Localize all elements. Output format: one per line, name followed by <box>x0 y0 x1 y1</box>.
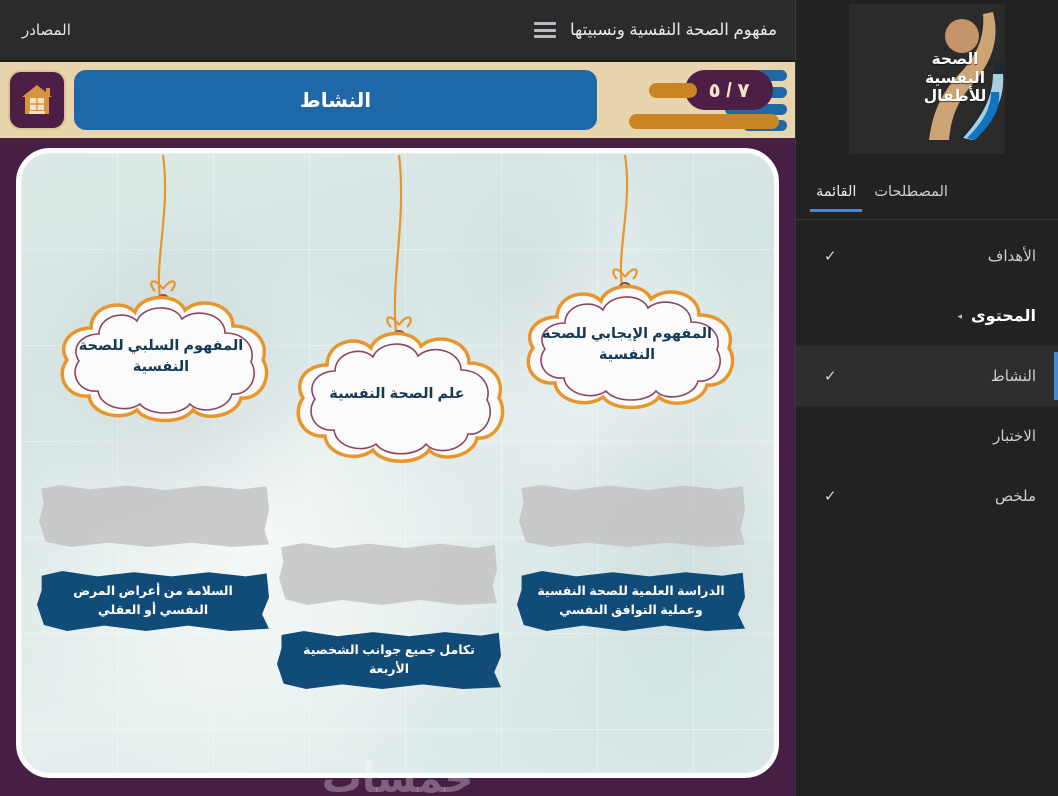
answer-chip-label: السلامة من أعراض المرض النفسي أو العقلي <box>51 582 255 620</box>
answer-chip-label: الدراسة العلمية للصحة النفسية وعملية الت… <box>531 582 731 620</box>
check-icon: ✓ <box>824 489 837 504</box>
brand-logo-text: الصحة النفسية للأطفال <box>919 51 1005 108</box>
check-icon: ✓ <box>824 369 837 384</box>
logo-area: الصحة النفسية للأطفال <box>796 0 1058 162</box>
answer-chip-left[interactable]: السلامة من أعراض المرض النفسي أو العقلي <box>37 571 269 631</box>
home-button[interactable] <box>8 70 66 130</box>
sidebar-item-label: الاختبار <box>993 427 1036 445</box>
cloud-card-negative[interactable]: المفهوم السلبي للصحة النفسية <box>43 290 279 424</box>
app-root: مفهوم الصحة النفسية ونسبيتها المصادر الن… <box>0 0 1058 796</box>
sidebar-tabs: القائمة المصطلحات <box>796 162 1058 220</box>
dropzone-right[interactable] <box>519 485 745 547</box>
sidebar-item-label: الأهداف <box>988 247 1036 265</box>
brand-line-2: النفسية <box>919 70 991 89</box>
top-bar-right-group: مفهوم الصحة النفسية ونسبيتها <box>534 20 777 40</box>
sidebar-item-activity[interactable]: النشاط ✓ <box>796 346 1058 406</box>
answer-chip-center[interactable]: تكامل جميع جوانب الشخصية الأربعة <box>277 631 501 689</box>
sidebar-item-test[interactable]: الاختبار <box>796 406 1058 466</box>
cloud-label: علم الصحة النفسية <box>307 384 486 405</box>
activity-title: النشاط <box>74 70 597 130</box>
brand-line-3: للأطفال <box>919 88 991 107</box>
sidebar-item-goals-label-group: الأهداف <box>988 247 1036 265</box>
cloud-card-positive[interactable]: المفهوم الإيجابي للصحة النفسية <box>509 279 745 411</box>
answer-chip-label: تكامل جميع جوانب الشخصية الأربعة <box>291 641 487 679</box>
activity-canvas: المفهوم السلبي للصحة النفسية علم الصحة ا… <box>16 148 779 778</box>
dropzone-left[interactable] <box>39 485 269 547</box>
main-content-area: مفهوم الصحة النفسية ونسبيتها المصادر الن… <box>0 0 795 796</box>
activity-band: النشاط ٧ / ٥ <box>0 60 795 138</box>
decor-dash-orange-1 <box>649 83 697 98</box>
tab-menu[interactable]: القائمة <box>814 170 858 212</box>
sidebar-item-label: المحتوى <box>971 306 1036 326</box>
activity-stage: المفهوم السلبي للصحة النفسية علم الصحة ا… <box>0 138 795 796</box>
brand-line-1: الصحة <box>919 51 991 70</box>
cloud-card-center[interactable]: علم الصحة النفسية <box>279 325 515 465</box>
sidebar-item-summary-label-group: ملخص <box>995 487 1036 505</box>
slide-counter: ٧ / ٥ <box>685 70 773 110</box>
sidebar-item-summary[interactable]: ملخص ✓ <box>796 466 1058 526</box>
sidebar-item-label: ملخص <box>995 487 1036 505</box>
top-bar: مفهوم الصحة النفسية ونسبيتها المصادر <box>0 0 795 60</box>
sidebar: الصحة النفسية للأطفال القائمة المصطلحات … <box>795 0 1058 796</box>
sidebar-menu: الأهداف ✓ المحتوى ◂ النشاط ✓ الاختبا <box>796 220 1058 526</box>
brand-logo: الصحة النفسية للأطفال <box>849 4 1005 154</box>
check-icon: ✓ <box>824 249 837 264</box>
cloud-label: المفهوم السلبي للصحة النفسية <box>43 336 279 378</box>
hamburger-icon[interactable] <box>534 22 556 38</box>
sidebar-item-content[interactable]: المحتوى ◂ <box>796 286 1058 346</box>
decor-dash-orange-2 <box>629 114 779 129</box>
sources-link[interactable]: المصادر <box>22 21 71 39</box>
dropzone-center[interactable] <box>279 543 497 605</box>
activity-progress: ٧ / ٥ <box>605 68 787 132</box>
sidebar-item-label: النشاط <box>991 367 1036 385</box>
chevron-left-icon: ◂ <box>957 311 962 322</box>
page-title: مفهوم الصحة النفسية ونسبيتها <box>570 20 777 40</box>
sidebar-item-content-label-group: المحتوى ◂ <box>957 306 1036 326</box>
sidebar-item-activity-label-group: النشاط <box>991 367 1036 385</box>
answer-chip-right[interactable]: الدراسة العلمية للصحة النفسية وعملية الت… <box>517 571 745 631</box>
sidebar-item-test-label-group: الاختبار <box>993 427 1036 445</box>
home-icon <box>20 82 54 118</box>
cloud-label: المفهوم الإيجابي للصحة النفسية <box>509 324 745 366</box>
sidebar-item-goals[interactable]: الأهداف ✓ <box>796 226 1058 286</box>
tab-terms[interactable]: المصطلحات <box>872 170 950 212</box>
